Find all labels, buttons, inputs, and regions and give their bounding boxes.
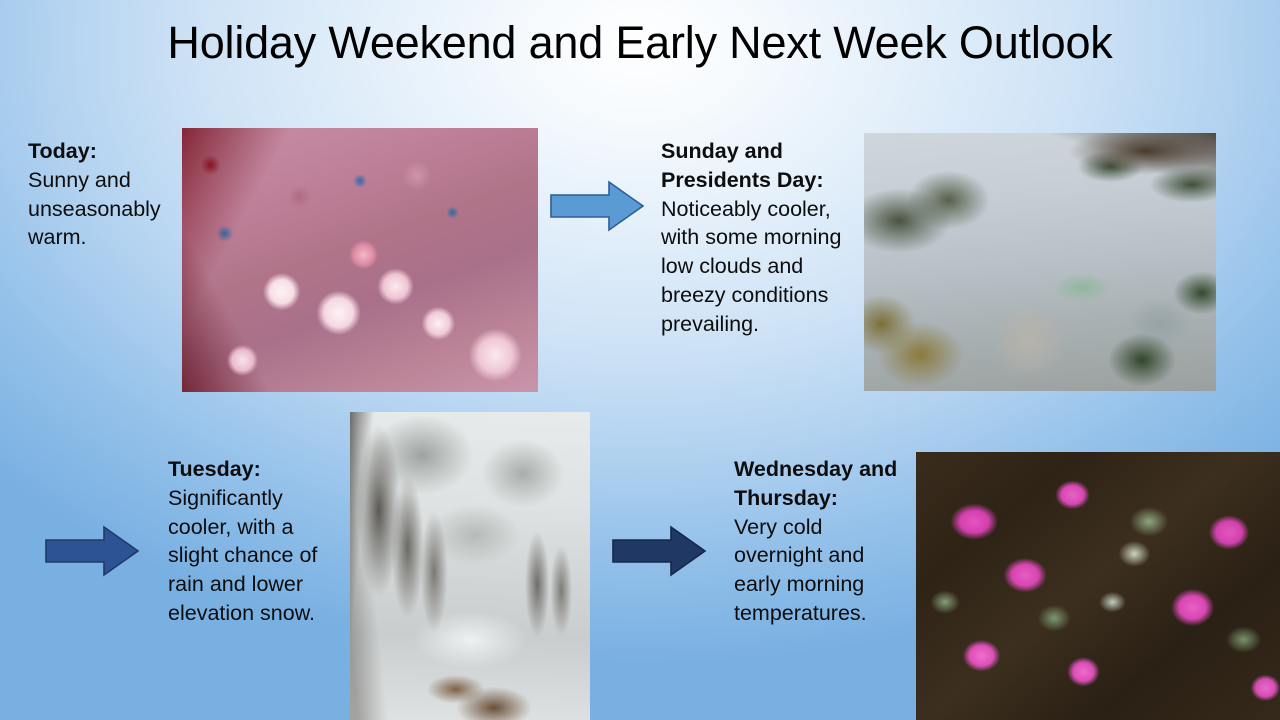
forecast-block-wednesday: Wednesday and Thursday: Very cold overni… [734,455,912,628]
forecast-lead-sunday: Sunday and Presidents Day: [661,137,849,195]
forecast-lead-today: Today: [28,137,180,166]
forecast-body-today: Sunny and unseasonably warm. [28,166,180,252]
frosted-flowers-photo [916,452,1280,720]
right-arrow-icon-sunday-to-tuesday [44,524,140,578]
frosted-flowers-photo-surface [916,452,1280,720]
forecast-body-sunday: Noticeably cooler, with some morning low… [661,195,849,339]
cherry-blossoms-photo-surface [182,128,538,392]
forecast-body-wednesday: Very cold overnight and early morning te… [734,513,912,628]
forecast-lead-tuesday: Tuesday: [168,455,343,484]
page-title: Holiday Weekend and Early Next Week Outl… [60,14,1220,72]
right-arrow-icon-tuesday-to-wednesday [611,524,707,578]
snowy-forest-road-photo [350,412,590,720]
right-arrow-icon-today-to-sunday [549,179,645,233]
forecast-block-today: Today: Sunny and unseasonably warm. [28,137,180,252]
snowy-forest-road-photo-surface [350,412,590,720]
forecast-lead-wednesday: Wednesday and Thursday: [734,455,912,513]
foggy-coast-photo-surface [864,133,1216,391]
forecast-body-tuesday: Significantly cooler, with a slight chan… [168,484,343,628]
forecast-block-tuesday: Tuesday: Significantly cooler, with a sl… [168,455,343,628]
forecast-block-sunday: Sunday and Presidents Day: Noticeably co… [661,137,849,339]
cherry-blossoms-photo [182,128,538,392]
foggy-coast-photo [864,133,1216,391]
slide-canvas: Holiday Weekend and Early Next Week Outl… [0,0,1280,720]
